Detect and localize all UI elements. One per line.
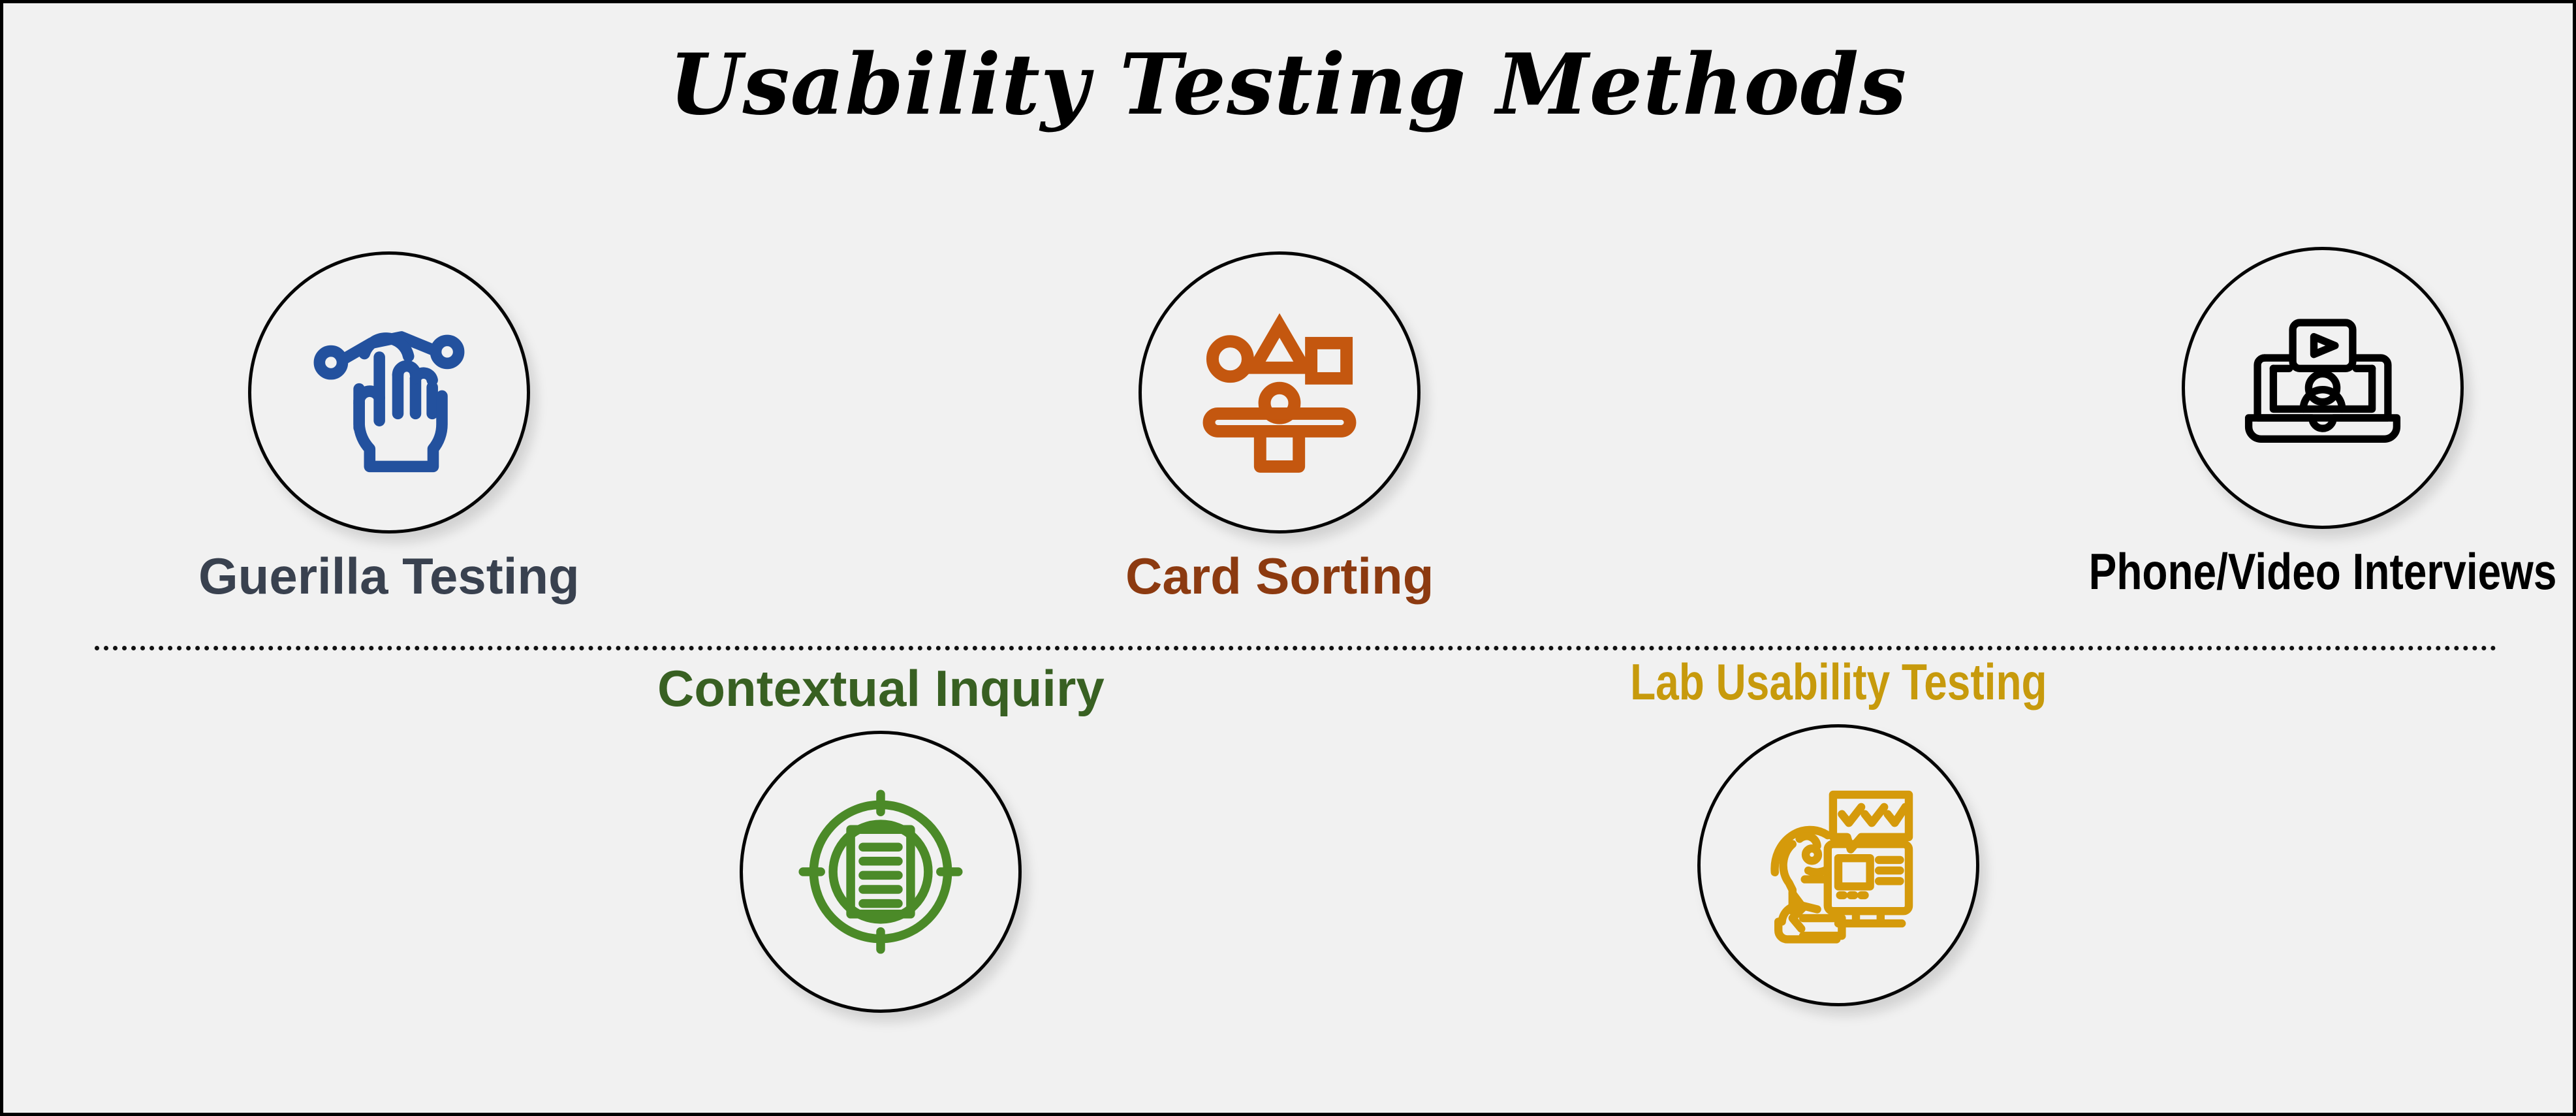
method-card-card-sorting[interactable]: Card Sorting [1125,251,1434,601]
infographic-canvas: Usability Testing Methods [0,0,2576,1116]
icon-badge-guerilla-testing[interactable] [248,251,530,534]
method-card-contextual-inquiry[interactable]: Contextual Inquiry [657,663,1105,1013]
method-label-contextual-inquiry: Contextual Inquiry [657,663,1105,714]
method-label-lab-usability-testing: Lab Usability Testing [1630,656,2047,707]
icon-badge-contextual-inquiry[interactable] [740,731,1022,1013]
document-target-crosshair-icon [793,784,969,960]
laptop-video-call-icon [2235,300,2411,476]
user-at-computer-checklist-icon [1750,777,1926,953]
page-title: Usability Testing Methods [3,36,2573,134]
method-card-lab-usability-testing[interactable]: Lab Usability Testing [1584,656,2093,1006]
icon-badge-phone-video-interviews[interactable] [2182,247,2464,529]
method-card-phone-video-interviews[interactable]: Phone/Video Interviews [2037,247,2576,597]
icon-badge-card-sorting[interactable] [1139,251,1421,534]
card-sorting-shapes-person-icon [1191,304,1368,481]
section-divider [95,646,2497,650]
method-label-guerilla-testing: Guerilla Testing [198,550,580,601]
method-card-guerilla-testing[interactable]: Guerilla Testing [198,251,580,601]
method-label-card-sorting: Card Sorting [1125,550,1434,601]
method-label-phone-video-interviews: Phone/Video Interviews [2089,546,2557,597]
icon-badge-lab-usability-testing[interactable] [1697,724,1979,1006]
hand-touch-gesture-icon [301,304,477,481]
